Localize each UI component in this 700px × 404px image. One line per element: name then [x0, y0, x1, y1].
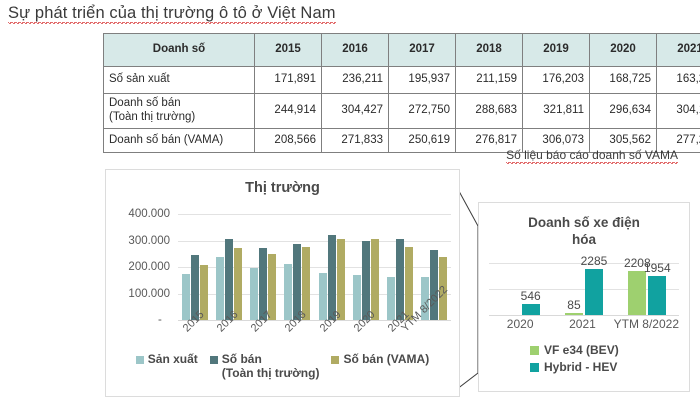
table-header-2021: 2021 — [657, 34, 700, 67]
electrified-chart-panel: Doanh số xe điện hóa 54685228522081954 2… — [478, 202, 690, 392]
table-header-2018: 2018 — [456, 34, 523, 67]
bar — [319, 273, 327, 320]
cell-total-sales-2019: 321,811 — [523, 94, 590, 129]
row-label-total-sales: Doanh số bán (Toàn thị trường) — [104, 94, 255, 129]
inset-bar: 1954 — [648, 276, 666, 315]
electrified-chart-title-line1: Doanh số xe điện — [487, 215, 681, 232]
bar-group — [280, 214, 314, 320]
bar — [337, 239, 345, 320]
inset-bar-group: 852285 — [552, 263, 615, 315]
legend-swatch-bev-icon — [530, 346, 539, 355]
bar — [353, 275, 361, 320]
legend-swatch-production-icon — [136, 356, 144, 364]
legend-label-total-sales: Số bán — [222, 352, 320, 366]
cell-total-sales-2017: 272,750 — [389, 94, 456, 129]
inset-bar-group: 22081954 — [616, 263, 679, 315]
table-row: Doanh số bán (Toàn thị trường) 244,914 3… — [104, 94, 700, 129]
bar-group — [315, 214, 349, 320]
table-header-2017: 2017 — [389, 34, 456, 67]
bar-group — [246, 214, 280, 320]
legend-label-total-sales-sub: (Toàn thị trường) — [222, 366, 320, 380]
legend-item-hev: Hybrid - HEV — [530, 360, 638, 374]
table-row: Số sản xuất 171,891 236,211 195,937 211,… — [104, 67, 700, 94]
legend-swatch-vama-icon — [331, 356, 339, 364]
cell-production-2019: 176,203 — [523, 67, 590, 94]
table-header-row: Doanh số 2015 2016 2017 2018 2019 2020 2… — [104, 34, 700, 67]
legend-label-production: Sản xuất — [148, 352, 198, 366]
cell-vama-2015: 208,566 — [255, 129, 322, 153]
bar — [284, 264, 292, 320]
cell-production-2021: 163,271 — [657, 67, 700, 94]
bar-group — [383, 214, 417, 320]
market-chart-bars — [178, 214, 451, 320]
cell-production-2017: 195,937 — [389, 67, 456, 94]
bar — [328, 235, 336, 320]
bar — [268, 254, 276, 320]
electrified-chart-title-line2: hóa — [487, 232, 681, 249]
legend-label-vama: Số bán (VAMA) — [343, 352, 429, 366]
table-header-2020: 2020 — [590, 34, 657, 67]
cell-total-sales-2021: 304,150 — [657, 94, 700, 129]
electrified-chart-bars: 54685228522081954 — [489, 263, 679, 315]
cell-vama-2017: 250,619 — [389, 129, 456, 153]
electrified-chart-xticks: 20202021YTM 8/2022 — [489, 317, 679, 331]
legend-swatch-hev-icon — [530, 363, 539, 372]
legend-item-total-sales: Số bán (Toàn thị trường) — [210, 352, 320, 380]
cell-production-2016: 236,211 — [322, 67, 389, 94]
market-chart-plot: 400.000 300.000 200.000 100.000 — [178, 214, 451, 320]
bar-group — [212, 214, 246, 320]
inset-xtick-label: YTM 8/2022 — [614, 317, 679, 331]
table-header-2019: 2019 — [523, 34, 590, 67]
bar-group — [349, 214, 383, 320]
bar — [234, 248, 242, 320]
legend-label-hev: Hybrid - HEV — [544, 360, 617, 374]
row-label-production: Số sản xuất — [104, 67, 255, 94]
cell-total-sales-2015: 244,914 — [255, 94, 322, 129]
legend-swatch-total-sales-icon — [210, 356, 218, 364]
inset-xtick-label: 2021 — [551, 317, 613, 331]
legend-item-production: Sản xuất — [136, 352, 198, 366]
bar — [302, 247, 310, 320]
cell-production-2015: 171,891 — [255, 67, 322, 94]
inset-bar-group: 546 — [489, 263, 552, 315]
inset-xtick-label: 2020 — [489, 317, 551, 331]
ytick-300000: 300.000 — [128, 235, 170, 247]
electrified-chart-legend: VF e34 (BEV) Hybrid - HEV — [479, 343, 689, 374]
inset-bar-value-label: 546 — [521, 289, 541, 303]
cell-total-sales-2018: 288,683 — [456, 94, 523, 129]
legend-label-bev: VF e34 (BEV) — [544, 343, 619, 357]
page-title: Sự phát triển của thị trường ô tô ở Việt… — [8, 4, 336, 23]
cell-total-sales-2020: 296,634 — [590, 94, 657, 129]
ytick-400000: 400.000 — [128, 208, 170, 220]
electrified-chart-xaxis — [489, 315, 679, 316]
inset-bar: 546 — [522, 304, 540, 315]
bar — [387, 277, 395, 320]
electrified-chart-title: Doanh số xe điện hóa — [487, 215, 681, 249]
market-chart-legend: Sản xuất Số bán (Toàn thị trường) Số bán… — [114, 352, 451, 380]
market-chart-title: Thị trường — [106, 180, 459, 196]
bar — [250, 268, 258, 320]
inset-bar-value-label: 2285 — [581, 254, 608, 268]
bar — [371, 239, 379, 320]
table-header-label: Doanh số — [104, 34, 255, 67]
inset-bar: 2208 — [628, 271, 646, 315]
ytick-100000: 100.000 — [128, 288, 170, 300]
cell-vama-2016: 271,833 — [322, 129, 389, 153]
market-chart-panel: Thị trường 400.000 300.000 200.000 100.0… — [105, 169, 460, 397]
electrified-chart-plot: 54685228522081954 — [489, 263, 679, 315]
cell-production-2020: 168,725 — [590, 67, 657, 94]
page-title-text: Sự phát triển của thị trường ô tô ở Việt… — [8, 4, 336, 24]
bar — [182, 274, 190, 320]
inset-bar: 2285 — [585, 269, 603, 315]
inset-bar-value-label: 85 — [567, 298, 580, 312]
cell-total-sales-2016: 304,427 — [322, 94, 389, 129]
inset-bar-value-label: 1954 — [644, 261, 671, 275]
bar-group — [178, 214, 212, 320]
row-label-vama-sales: Doanh số bán (VAMA) — [104, 129, 255, 153]
ytick-200000: 200.000 — [128, 261, 170, 273]
legend-item-bev: VF e34 (BEV) — [530, 343, 638, 357]
cell-production-2018: 211,159 — [456, 67, 523, 94]
ytick-zero: - — [158, 314, 162, 326]
table-header-2016: 2016 — [322, 34, 389, 67]
bar — [216, 257, 224, 320]
sales-data-table: Doanh số 2015 2016 2017 2018 2019 2020 2… — [103, 33, 700, 153]
bar — [405, 247, 413, 320]
table-source-note-text: Số liệu báo cáo doanh số VAMA — [506, 148, 678, 164]
table-header-2015: 2015 — [255, 34, 322, 67]
legend-item-vama: Số bán (VAMA) — [331, 352, 429, 366]
table-source-note: Số liệu báo cáo doanh số VAMA — [506, 148, 678, 162]
